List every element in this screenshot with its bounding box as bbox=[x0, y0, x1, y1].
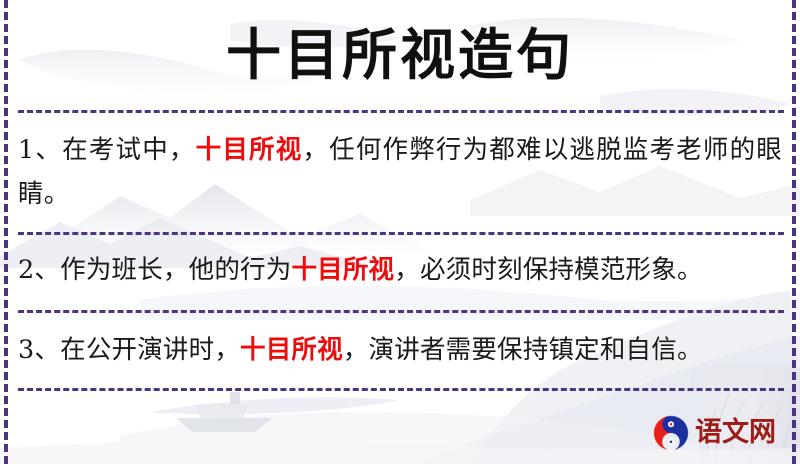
idiom-highlight-1: 十目所视 bbox=[196, 135, 303, 165]
sentence-number-3: 3、 bbox=[18, 335, 60, 365]
border-right-dashed bbox=[792, 0, 796, 464]
page-root: 十目所视造句 1、在考试中，十目所视，任何作弊行为都难以逃脱监考老师的眼睛。 2… bbox=[0, 0, 800, 464]
sentence-number-1: 1、 bbox=[18, 135, 62, 165]
divider-after-sentence-2 bbox=[18, 310, 784, 313]
sentence-text-before-1: 在考试中， bbox=[62, 135, 196, 165]
site-logo[interactable]: 语文网 bbox=[652, 412, 788, 454]
site-logo-text: 语文网 bbox=[695, 418, 776, 448]
sentence-text-after-3: ，演讲者需要保持镇定和自信。 bbox=[343, 335, 703, 365]
divider-below-title bbox=[18, 110, 784, 113]
sentence-item-1: 1、在考试中，十目所视，任何作弊行为都难以逃脱监考老师的眼睛。 bbox=[18, 128, 782, 216]
boat-silhouette bbox=[176, 392, 272, 432]
sentence-number-2: 2、 bbox=[18, 255, 60, 285]
sentence-item-2: 2、作为班长，他的行为十目所视，必须时刻保持模范形象。 bbox=[18, 248, 782, 292]
border-left-dashed bbox=[4, 0, 8, 464]
divider-after-sentence-1 bbox=[18, 232, 784, 235]
page-title: 十目所视造句 bbox=[0, 22, 800, 88]
idiom-highlight-3: 十目所视 bbox=[240, 335, 343, 365]
sentence-item-3: 3、在公开演讲时，十目所视，演讲者需要保持镇定和自信。 bbox=[18, 328, 782, 372]
sentence-text-before-3: 在公开演讲时， bbox=[60, 335, 240, 365]
sentence-text-before-2: 作为班长，他的行为 bbox=[60, 255, 291, 285]
sentence-text-after-2: ，必须时刻保持模范形象。 bbox=[394, 255, 702, 285]
taiji-yinyang-icon bbox=[652, 414, 690, 452]
idiom-highlight-2: 十目所视 bbox=[291, 255, 394, 285]
divider-after-sentence-3 bbox=[18, 388, 784, 391]
